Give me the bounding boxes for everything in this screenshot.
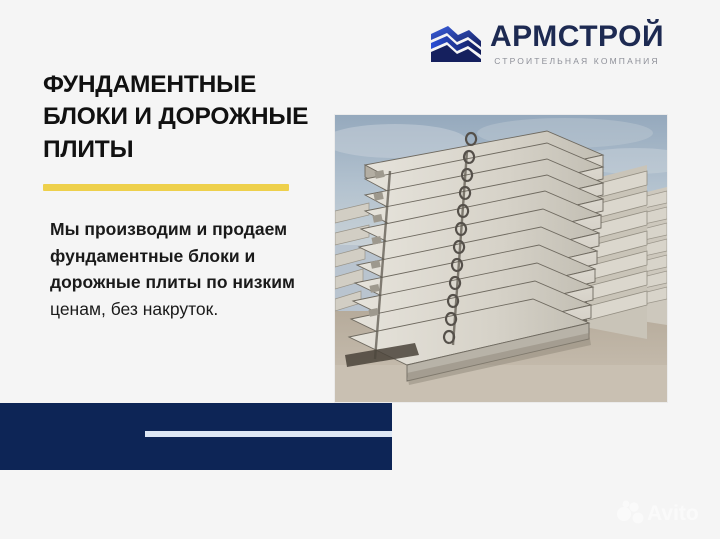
svg-text:Avito: Avito [647,502,699,525]
logo-subtitle: СТРОИТЕЛЬНАЯ КОМПАНИЯ [490,57,664,66]
product-photo [335,115,667,402]
body-text: Мы производим и продаем фундаментные бло… [50,216,335,322]
logo-title: АРМСТРОЙ [490,22,664,53]
armstroy-layers-mark-icon [428,23,484,63]
logo-wordmark: АРМСТРОЙ СТРОИТЕЛЬНАЯ КОМПАНИЯ [490,20,664,65]
gold-divider [43,184,289,191]
avito-watermark: Avito [616,499,708,525]
body-text-tail: ценам, без накруток. [50,299,218,319]
headline: ФУНДАМЕНТНЫЕ БЛОКИ И ДОРОЖНЫЕ ПЛИТЫ [43,69,343,166]
navy-accent-line [145,431,392,437]
advertisement-banner: АРМСТРОЙ СТРОИТЕЛЬНАЯ КОМПАНИЯ ФУНДАМЕНТ… [0,0,720,539]
company-logo: АРМСТРОЙ СТРОИТЕЛЬНАЯ КОМПАНИЯ [428,20,678,72]
body-text-main: Мы производим и продаем фундаментные бло… [50,219,295,292]
